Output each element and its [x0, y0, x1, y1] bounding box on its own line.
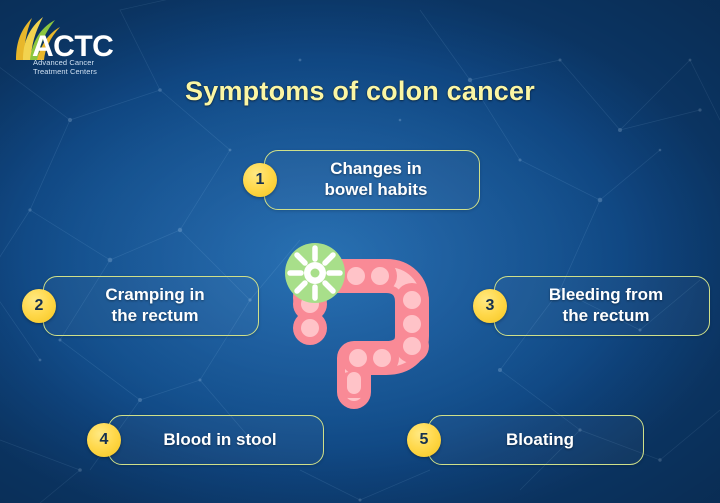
- symptom-label-2: Cramping in the rectum: [79, 285, 222, 326]
- brand-logo[interactable]: ACTC Advanced Cancer Treatment Centers: [10, 14, 130, 76]
- symptom-badge-3[interactable]: 3: [473, 289, 507, 323]
- symptom-label-5: Bloating: [480, 430, 592, 451]
- infographic-canvas: ACTC Advanced Cancer Treatment Centers S…: [0, 0, 720, 503]
- symptom-item-3[interactable]: Bleeding from the rectum: [494, 276, 710, 336]
- logo-tagline-line2: Treatment Centers: [33, 67, 97, 76]
- colon-illustration: [282, 232, 462, 412]
- symptom-item-5[interactable]: Bloating: [428, 415, 644, 465]
- symptom-badge-2[interactable]: 2: [22, 289, 56, 323]
- page-title: Symptoms of colon cancer: [0, 76, 720, 107]
- germ-cell-icon: [284, 242, 346, 304]
- symptom-label-4: Blood in stool: [137, 430, 294, 451]
- symptom-label-3: Bleeding from the rectum: [523, 285, 681, 326]
- symptom-badge-4[interactable]: 4: [87, 423, 121, 457]
- symptom-item-4[interactable]: Blood in stool: [108, 415, 324, 465]
- symptom-item-1[interactable]: Changes in bowel habits: [264, 150, 480, 210]
- logo-tagline-line1: Advanced Cancer: [33, 58, 97, 67]
- symptom-item-2[interactable]: Cramping in the rectum: [43, 276, 259, 336]
- symptom-badge-1[interactable]: 1: [243, 163, 277, 197]
- logo-tagline: Advanced Cancer Treatment Centers: [33, 58, 97, 76]
- symptom-label-1: Changes in bowel habits: [299, 159, 446, 200]
- symptom-badge-5[interactable]: 5: [407, 423, 441, 457]
